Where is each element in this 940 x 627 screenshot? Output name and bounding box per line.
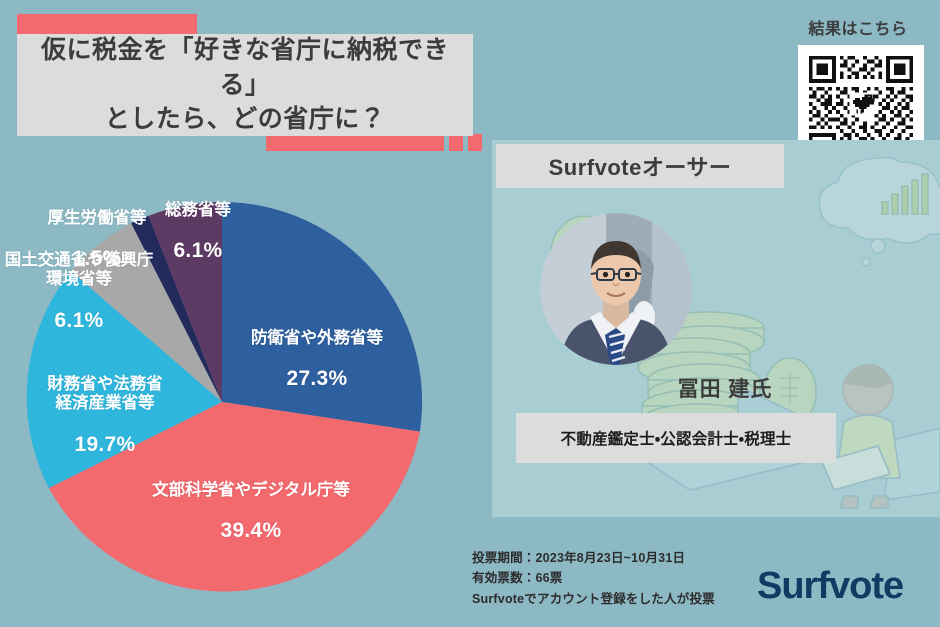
author-credentials: 不動産鑑定士・公認会計士・税理士 <box>561 427 792 449</box>
pie-label-bouei-value: 27.3% <box>222 367 412 392</box>
author-photo <box>540 213 692 365</box>
pie-label-soumu: 総務省等 6.1% <box>138 182 258 283</box>
author-credentials-box: 不動産鑑定士・公認会計士・税理士 <box>516 413 836 463</box>
pie-label-zaimu-name: 財務省や法務省 経済産業省等 <box>20 375 190 414</box>
author-header-label: Surfvoteオーサー <box>549 150 732 182</box>
page-title: 仮に税金を「好きな省庁に納税できる」 としたら、どの省庁に？ <box>17 33 473 137</box>
qr-caption: 結果はこちら <box>788 15 928 39</box>
title-box: 仮に税金を「好きな省庁に納税できる」 としたら、どの省庁に？ <box>17 34 473 136</box>
author-avatar <box>540 213 692 365</box>
decor-bar-top <box>17 14 197 34</box>
pie-label-monbu-value: 39.4% <box>126 519 376 544</box>
author-name: 冨田 建氏 <box>640 373 810 403</box>
surfvote-logo: Surfvote <box>757 565 903 608</box>
pie-label-monbu-name: 文部科学省やデジタル庁等 <box>126 481 376 500</box>
vote-meta: 投票期間：2023年8月23日~10月31日 有効票数：66票 Surfvote… <box>472 548 715 609</box>
pie-label-bouei-name: 防衛省や外務省等 <box>222 329 412 348</box>
dinosaur-icon <box>849 93 874 116</box>
pie-label-monbu: 文部科学省やデジタル庁等 39.4% <box>126 462 376 563</box>
pie-label-zaimu: 財務省や法務省 経済産業省等 19.7% <box>20 356 190 476</box>
infographic-poster: 仮に税金を「好きな省庁に納税できる」 としたら、どの省庁に？ 結果はこちら <box>0 0 940 627</box>
pie-label-soumu-name: 総務省等 <box>138 201 258 220</box>
author-header-box: Surfvoteオーサー <box>496 144 784 188</box>
pie-label-bouei: 防衛省や外務省等 27.3% <box>222 310 412 411</box>
pie-label-kokudo-value: 6.1% <box>0 309 164 334</box>
pie-label-soumu-value: 6.1% <box>138 239 258 264</box>
pie-chart: 防衛省や外務省等 27.3% 文部科学省やデジタル庁等 39.4% 財務省や法務… <box>0 178 470 627</box>
pie-label-zaimu-value: 19.7% <box>20 433 190 458</box>
